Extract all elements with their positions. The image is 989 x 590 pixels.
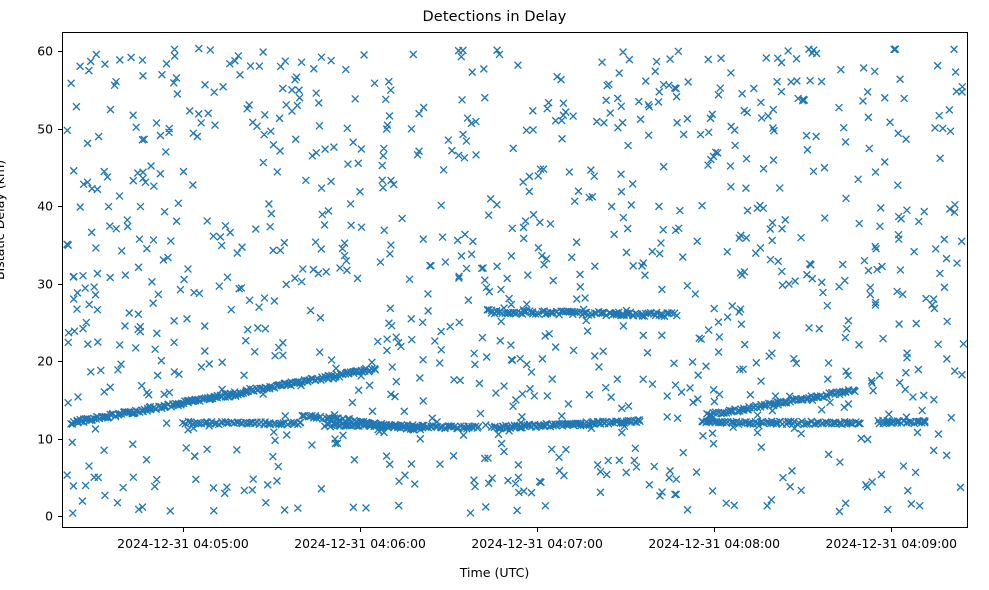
x-tick-mark (537, 528, 538, 532)
scatter-series (63, 33, 967, 527)
figure-canvas: Detections in Delay 0102030405060 2024-1… (0, 0, 989, 590)
y-tick-label: 60 (0, 44, 53, 59)
y-tick-mark (58, 516, 62, 517)
y-tick-label: 50 (0, 121, 53, 136)
x-tick-mark (360, 528, 361, 532)
x-tick-mark (183, 528, 184, 532)
y-tick-mark (58, 284, 62, 285)
plot-area (62, 32, 968, 528)
x-axis-label: Time (UTC) (0, 565, 989, 580)
y-tick-mark (58, 361, 62, 362)
y-tick-mark (58, 129, 62, 130)
y-tick-mark (58, 206, 62, 207)
x-tick-label: 2024-12-31 04:06:00 (294, 536, 426, 551)
x-tick-label: 2024-12-31 04:05:00 (117, 536, 249, 551)
x-tick-label: 2024-12-31 04:07:00 (471, 536, 603, 551)
y-tick-label: 20 (0, 354, 53, 369)
y-tick-mark (58, 439, 62, 440)
chart-title: Detections in Delay (0, 9, 989, 25)
x-tick-mark (891, 528, 892, 532)
y-tick-label: 0 (0, 509, 53, 524)
x-tick-label: 2024-12-31 04:09:00 (825, 536, 957, 551)
y-tick-mark (58, 51, 62, 52)
x-tick-mark (714, 528, 715, 532)
x-tick-label: 2024-12-31 04:08:00 (648, 536, 780, 551)
y-axis-label: Bistatic Delay (km) (0, 160, 7, 280)
y-tick-label: 30 (0, 276, 53, 291)
y-tick-label: 10 (0, 431, 53, 446)
y-tick-label: 40 (0, 199, 53, 214)
